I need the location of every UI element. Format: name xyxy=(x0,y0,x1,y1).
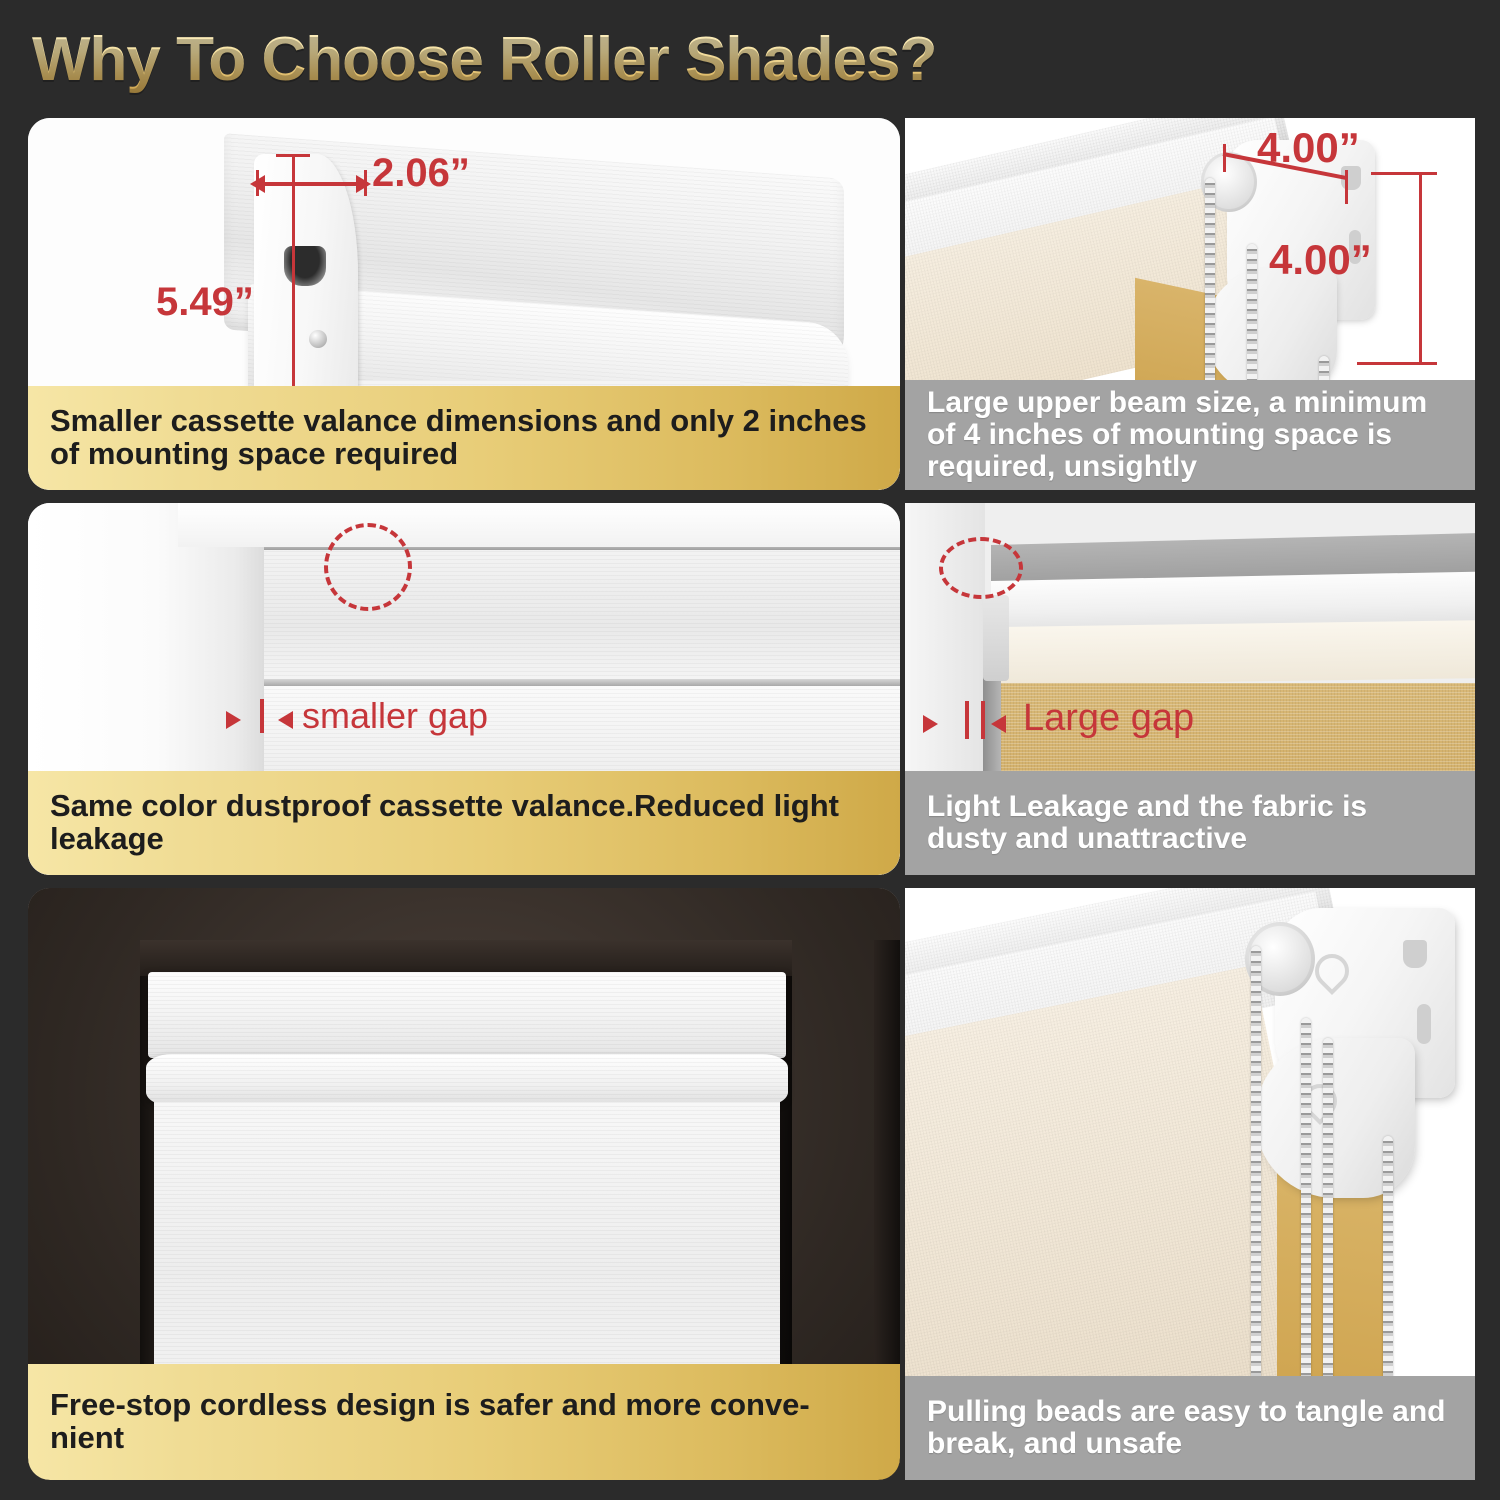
bracket-end xyxy=(983,595,1009,681)
dim-tick-top xyxy=(1371,172,1437,175)
dimension-label-height: 5.49” xyxy=(156,280,254,325)
gap-callout-label: Large gap xyxy=(1023,697,1194,740)
cassette-valance xyxy=(148,972,786,1058)
gap-arrow-right-icon xyxy=(923,715,938,733)
shade-fabric xyxy=(154,1102,780,1404)
dimension-label-width: 2.06” xyxy=(372,151,470,196)
caption-light-leakage: Light Leakage and the fabric is dusty an… xyxy=(905,771,1475,875)
bead-chain xyxy=(1383,1136,1393,1386)
bracket-slot-icon xyxy=(284,246,326,286)
gap-tick xyxy=(965,701,969,739)
panel-pulling-beads: Pulling beads are easy to tangle and bre… xyxy=(905,888,1475,1480)
dim-tick-bottom xyxy=(1357,362,1437,365)
panel-large-upper-beam: 4.00” 4.00” Large upper beam size, a min… xyxy=(905,118,1475,490)
dim-arrow-left-icon xyxy=(250,175,265,193)
dimension-label-width: 4.00” xyxy=(1257,124,1360,172)
caption-free-stop-cordless: Free-stop cordless design is safer and m… xyxy=(28,1364,900,1480)
caption-cassette-valance-dimensions: Smaller cassette valance dimensions and … xyxy=(28,386,900,490)
dim-line-height xyxy=(1419,172,1422,364)
cream-fabric-layer xyxy=(995,620,1475,685)
bead-chain xyxy=(1323,1038,1333,1386)
comparison-grid: 2.06” 5.49” Smaller cassette valance dim… xyxy=(0,118,1500,1500)
panel-dustproof-cassette-valance: smaller gap Same color dustproof cassett… xyxy=(28,503,900,875)
caption-large-upper-beam: Large upper beam size, a minimum of 4 in… xyxy=(905,380,1475,490)
gap-arrow-left-icon xyxy=(991,715,1006,733)
caption-dustproof-cassette-valance: Same color dustproof cassette valance.Re… xyxy=(28,771,900,875)
mounting-bracket-lower xyxy=(1205,268,1337,396)
panel-cassette-valance-dimensions: 2.06” 5.49” Smaller cassette valance dim… xyxy=(28,118,900,490)
panel-free-stop-cordless: Free-stop cordless design is safer and m… xyxy=(28,888,900,1480)
window-frame-top xyxy=(178,503,900,547)
bead-chain xyxy=(1251,946,1261,1386)
bracket-notch-icon xyxy=(1403,940,1427,968)
page-title: Why To Choose Roller Shades? xyxy=(32,24,936,95)
gap-tick xyxy=(260,699,264,733)
panel-light-leakage: Large gap Light Leakage and the fabric i… xyxy=(905,503,1475,875)
valance-bottom-rail xyxy=(256,679,900,686)
dim-line-width xyxy=(256,182,368,186)
roller-band xyxy=(146,1054,788,1106)
caption-pulling-beads: Pulling beads are easy to tangle and bre… xyxy=(905,1376,1475,1480)
dimension-label-height: 4.00” xyxy=(1269,236,1372,284)
highlight-circle-icon xyxy=(324,523,412,611)
dim-tick-left xyxy=(1223,144,1226,172)
bead-chain xyxy=(1301,1018,1311,1386)
screw-icon xyxy=(309,330,327,348)
dim-arrow-right-icon xyxy=(356,175,371,193)
gap-arrow-left-icon xyxy=(278,711,293,729)
window-header xyxy=(140,940,792,976)
gap-arrow-right-icon xyxy=(226,711,241,729)
dim-tick-top xyxy=(276,154,310,157)
gap-callout-label: smaller gap xyxy=(302,695,488,737)
gap-tick xyxy=(981,701,985,739)
highlight-circle-icon xyxy=(939,537,1023,599)
bracket-slot-icon xyxy=(1417,1004,1431,1044)
